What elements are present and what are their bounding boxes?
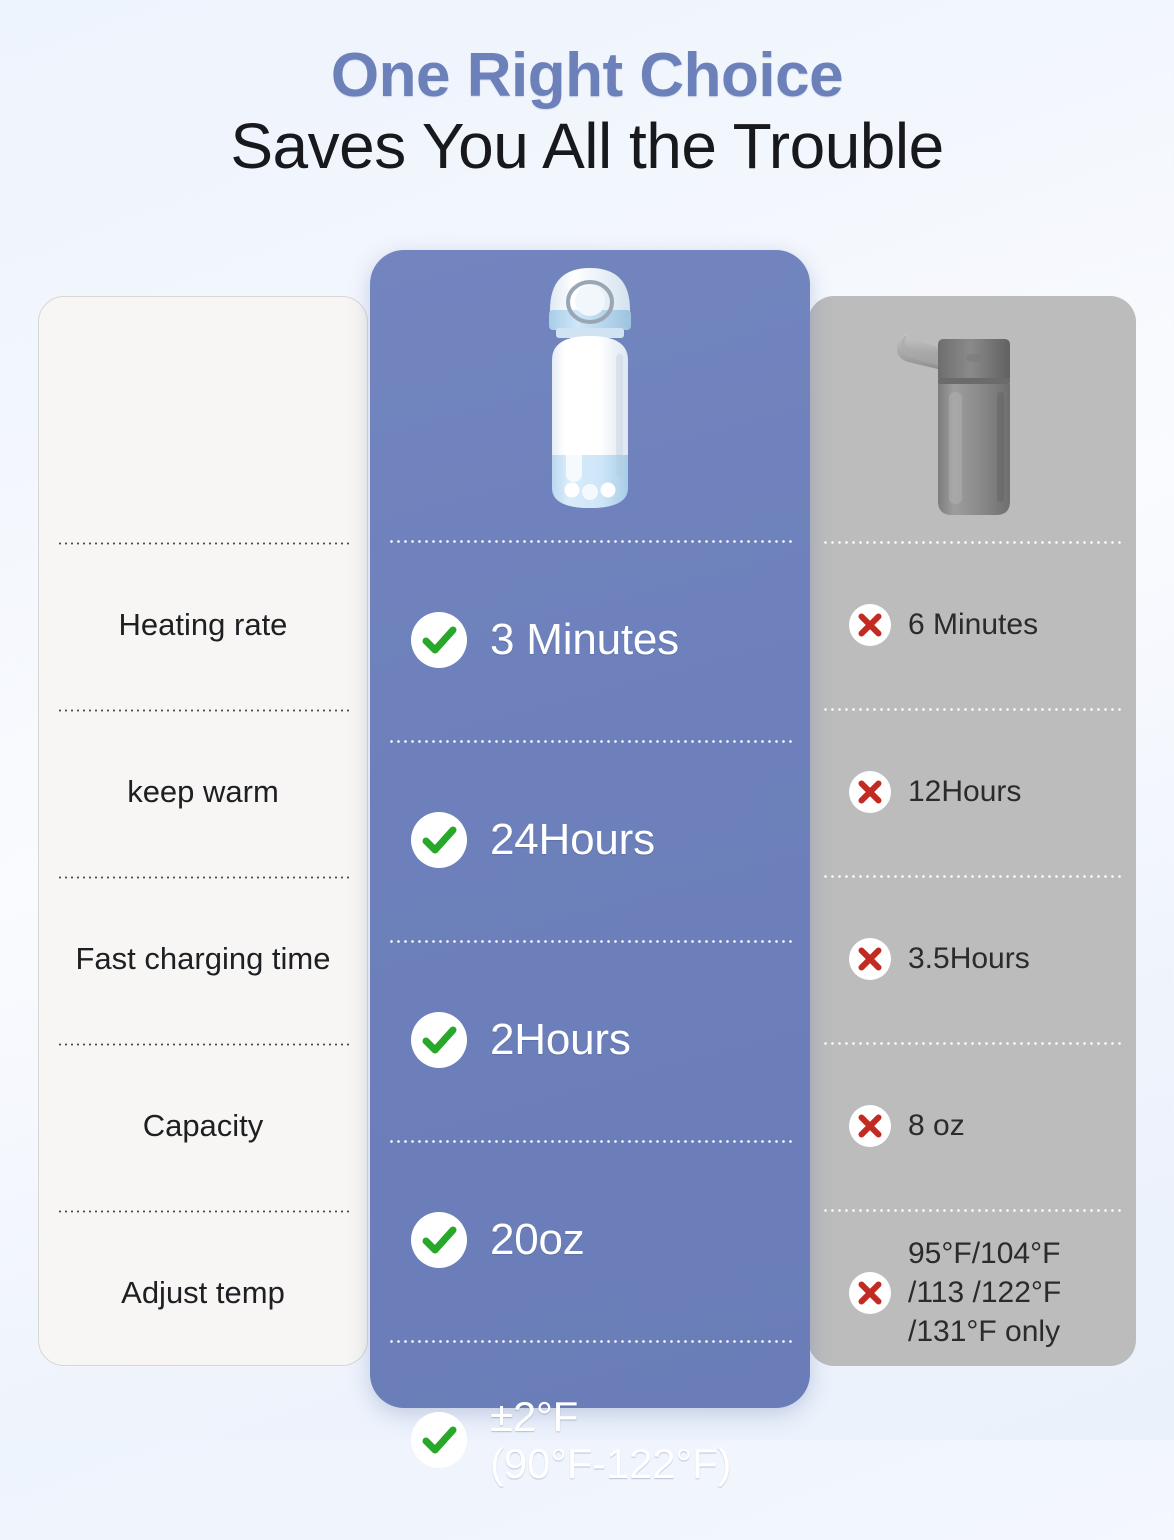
row-divider: [822, 708, 1122, 711]
row-divider: [388, 1140, 792, 1143]
cross-icon: [848, 1271, 892, 1315]
row-divider: [822, 1209, 1122, 1212]
competitor-value-line3: /131°F only: [908, 1315, 1060, 1348]
competitor-value: 8 oz: [908, 1106, 965, 1145]
row-divider: [57, 1210, 349, 1213]
our-value-multiline: ±2°F (90°F-122°F): [490, 1393, 731, 1487]
table-row: 6 Minutes: [808, 541, 1136, 708]
row-divider: [57, 876, 349, 879]
competitor-value: 6 Minutes: [908, 605, 1038, 644]
row-divider: [57, 1043, 349, 1046]
row-divider: [388, 740, 792, 743]
table-row: ±2°F (90°F-122°F): [370, 1340, 810, 1540]
check-icon: [410, 1011, 468, 1069]
our-value: 24Hours: [490, 815, 655, 864]
competitor-value: 12Hours: [908, 772, 1021, 811]
row-divider: [822, 1042, 1122, 1045]
our-value-line2: (90°F-122°F): [490, 1440, 731, 1487]
table-row: 3 Minutes: [370, 540, 810, 740]
competitor-product-image: [808, 296, 1136, 541]
table-row: 2Hours: [370, 940, 810, 1140]
table-row: Capacity: [39, 1043, 367, 1210]
feature-label: Fast charging time: [65, 940, 341, 979]
cross-icon: [848, 937, 892, 981]
table-row: 20oz: [370, 1140, 810, 1340]
row-divider: [57, 709, 349, 712]
row-divider: [822, 875, 1122, 878]
row-divider: [388, 940, 792, 943]
check-icon: [410, 1411, 468, 1469]
our-product-rows: 3 Minutes 24Hours 2Hours: [370, 540, 810, 1540]
table-row: Adjust temp: [39, 1210, 367, 1377]
table-row: 3.5Hours: [808, 875, 1136, 1042]
check-icon: [410, 1211, 468, 1269]
our-value: 2Hours: [490, 1015, 631, 1064]
table-row: 24Hours: [370, 740, 810, 940]
row-divider: [388, 1340, 792, 1343]
feature-rows: Heating rate keep warm Fast charging tim…: [39, 542, 367, 1377]
competitor-value-line2: /113 /122°F: [908, 1276, 1061, 1309]
feature-label: Adjust temp: [65, 1274, 341, 1313]
table-row: 8 oz: [808, 1042, 1136, 1209]
competitor-value-line1: 95°F/104°F: [908, 1237, 1060, 1270]
row-divider: [57, 542, 349, 545]
table-row: keep warm: [39, 709, 367, 876]
feature-label: Heating rate: [65, 606, 341, 645]
feature-label: keep warm: [65, 773, 341, 812]
our-product-image: [370, 250, 810, 540]
table-row: 95°F/104°F /113 /122°F /131°F only: [808, 1209, 1136, 1376]
competitor-column: 6 Minutes 12Hours 3.5Hours: [808, 296, 1136, 1366]
check-icon: [410, 611, 468, 669]
our-value: 20oz: [490, 1215, 585, 1264]
check-icon: [410, 811, 468, 869]
competitor-rows: 6 Minutes 12Hours 3.5Hours: [808, 541, 1136, 1376]
row-divider: [388, 540, 792, 543]
competitor-value-multiline: 95°F/104°F /113 /122°F /131°F only: [908, 1234, 1061, 1351]
cross-icon: [848, 603, 892, 647]
competitor-value: 3.5Hours: [908, 939, 1030, 978]
feature-label: Capacity: [65, 1107, 341, 1146]
table-row: 12Hours: [808, 708, 1136, 875]
cross-icon: [848, 770, 892, 814]
table-row: Heating rate: [39, 542, 367, 709]
comparison-board: Heating rate keep warm Fast charging tim…: [0, 0, 1174, 1440]
our-value-line1: ±2°F: [490, 1393, 578, 1440]
row-divider: [822, 541, 1122, 544]
our-value: 3 Minutes: [490, 615, 679, 664]
feature-column: Heating rate keep warm Fast charging tim…: [38, 296, 368, 1366]
our-product-column: 3 Minutes 24Hours 2Hours: [370, 250, 810, 1408]
cross-icon: [848, 1104, 892, 1148]
table-row: Fast charging time: [39, 876, 367, 1043]
